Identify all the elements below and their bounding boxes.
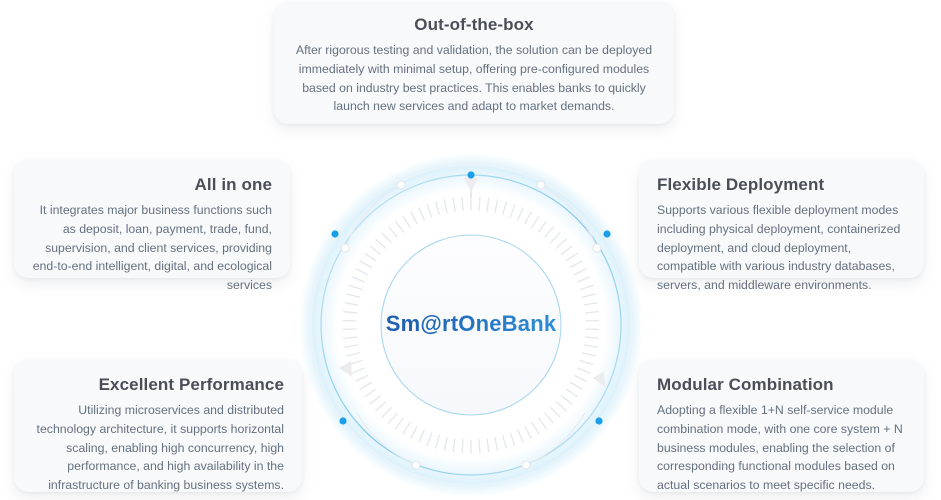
node-dot-icon: [595, 417, 602, 424]
node-dot-icon: [467, 171, 474, 178]
inner-circle: [381, 235, 561, 415]
feature-card-modular-combination[interactable]: Modular Combination Adopting a flexible …: [639, 360, 924, 492]
feature-card-all-in-one[interactable]: All in one It integrates major business …: [14, 160, 290, 278]
feature-card-out-of-the-box[interactable]: Out-of-the-box After rigorous testing an…: [274, 2, 674, 124]
tick-mark-icon: [479, 440, 480, 453]
arc-handle-icon: [341, 244, 349, 252]
card-body: After rigorous testing and validation, t…: [292, 41, 656, 116]
card-title: Modular Combination: [657, 374, 906, 395]
node-dot-icon: [331, 230, 338, 237]
card-body: Utilizing microservices and distributed …: [32, 401, 284, 494]
card-title: All in one: [32, 174, 272, 195]
central-hub-graphic: Sm@rtOneBank: [296, 138, 646, 500]
node-dot-icon: [603, 230, 610, 237]
feature-card-flexible-deployment[interactable]: Flexible Deployment Supports various fle…: [639, 160, 924, 278]
card-title: Excellent Performance: [32, 374, 284, 395]
card-body: Supports various flexible deployment mod…: [657, 201, 906, 294]
feature-card-excellent-performance[interactable]: Excellent Performance Utilizing microser…: [14, 360, 302, 492]
card-title: Out-of-the-box: [292, 14, 656, 35]
arc-handle-icon: [412, 461, 420, 469]
hub-svg: [296, 138, 646, 500]
node-dot-icon: [339, 417, 346, 424]
arc-handle-icon: [397, 181, 405, 189]
tick-mark-icon: [462, 197, 463, 210]
arc-handle-icon: [537, 181, 545, 189]
arc-handle-icon: [522, 461, 530, 469]
card-title: Flexible Deployment: [657, 174, 906, 195]
card-body: Adopting a flexible 1+N self-service mod…: [657, 401, 906, 494]
tick-mark-icon: [462, 440, 463, 453]
tick-mark-icon: [479, 197, 480, 210]
feature-diagram: Sm@rtOneBank Out-of-the-box After rigoro…: [0, 0, 941, 500]
card-body: It integrates major business functions s…: [32, 201, 272, 294]
arc-handle-icon: [593, 244, 601, 252]
